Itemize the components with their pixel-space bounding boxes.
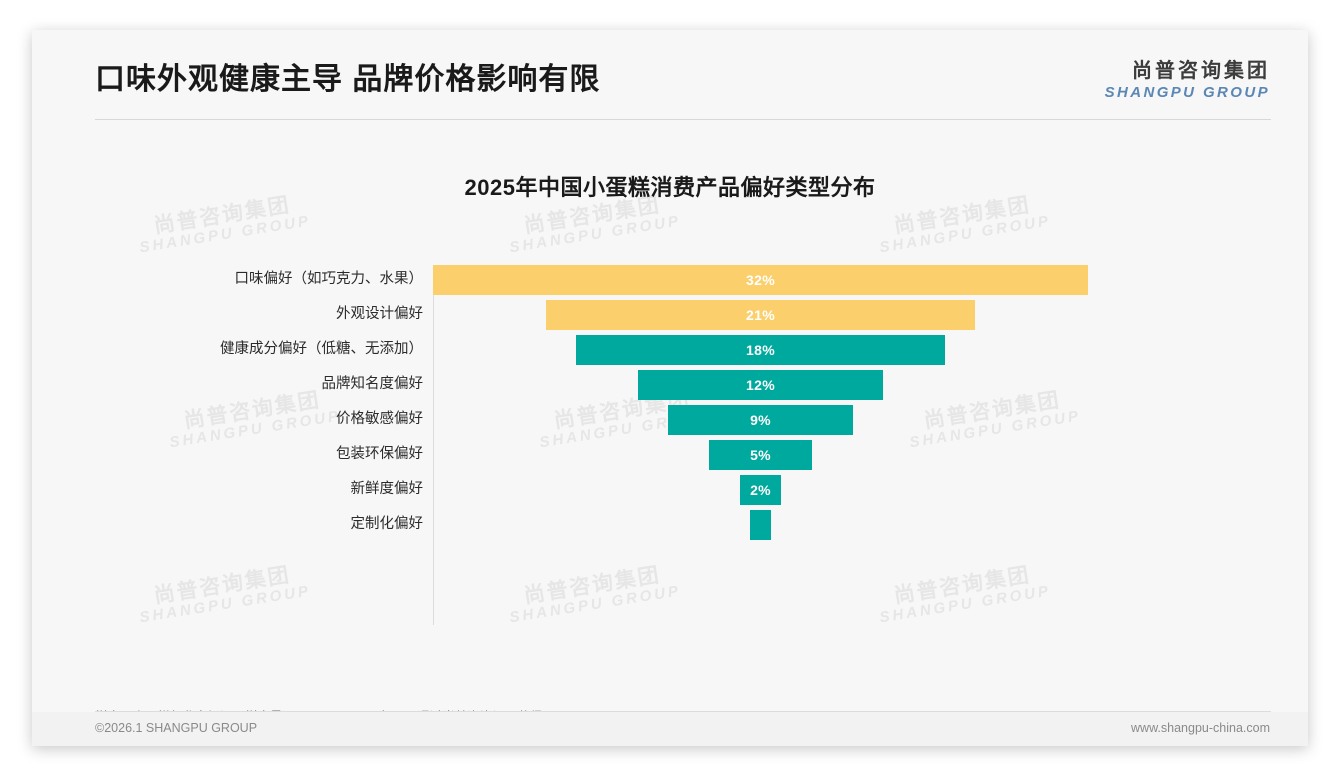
page-title: 口味外观健康主导 品牌价格影响有限 [95, 54, 600, 98]
bar[interactable]: 9% [668, 405, 852, 435]
logo-text-en: SHANGPU GROUP [1105, 84, 1270, 101]
category-label: 新鲜度偏好 [142, 472, 423, 507]
chart-row: 外观设计偏好21% [142, 297, 1212, 332]
logo-text-cn: 尚普咨询集团 [1105, 54, 1270, 83]
bar-value-label: 32% [746, 272, 775, 288]
website-link[interactable]: www.shangpu-china.com [1131, 721, 1270, 735]
chart-row: 包装环保偏好5% [142, 437, 1212, 472]
chart-row: 定制化偏好 [142, 507, 1212, 542]
header-divider [95, 119, 1271, 120]
funnel-bar-chart: 口味偏好（如巧克力、水果）32%外观设计偏好21%健康成分偏好（低糖、无添加）1… [142, 262, 1212, 627]
category-label: 包装环保偏好 [142, 437, 423, 472]
category-label: 品牌知名度偏好 [142, 367, 423, 402]
category-label: 外观设计偏好 [142, 297, 423, 332]
bar[interactable] [750, 510, 770, 540]
bar-value-label: 9% [750, 412, 771, 428]
category-label: 价格敏感偏好 [142, 402, 423, 437]
bar-value-label: 21% [746, 307, 775, 323]
chart-title: 2025年中国小蛋糕消费产品偏好类型分布 [32, 170, 1308, 202]
bar-value-label: 2% [750, 482, 771, 498]
slide-card: 尚普咨询集团SHANGPU GROUP尚普咨询集团SHANGPU GROUP尚普… [32, 30, 1308, 746]
chart-row: 新鲜度偏好2% [142, 472, 1212, 507]
bar-value-label: 5% [750, 447, 771, 463]
brand-logo: 尚普咨询集团 SHANGPU GROUP [1105, 54, 1270, 101]
chart-row: 品牌知名度偏好12% [142, 367, 1212, 402]
slide-header: 口味外观健康主导 品牌价格影响有限 尚普咨询集团 SHANGPU GROUP [32, 30, 1308, 120]
chart-row: 口味偏好（如巧克力、水果）32% [142, 262, 1212, 297]
category-label: 定制化偏好 [142, 507, 423, 542]
slide-footer: ©2026.1 SHANGPU GROUP www.shangpu-china.… [32, 712, 1308, 746]
bar-value-label: 18% [746, 342, 775, 358]
bar[interactable]: 32% [433, 265, 1088, 295]
bar[interactable]: 12% [638, 370, 884, 400]
chart-row: 价格敏感偏好9% [142, 402, 1212, 437]
category-label: 健康成分偏好（低糖、无添加） [142, 332, 423, 367]
bar-value-label: 12% [746, 377, 775, 393]
category-label: 口味偏好（如巧克力、水果） [142, 262, 423, 297]
bar[interactable]: 21% [546, 300, 976, 330]
chart-row: 健康成分偏好（低糖、无添加）18% [142, 332, 1212, 367]
bar[interactable]: 5% [709, 440, 811, 470]
bar[interactable]: 18% [576, 335, 944, 365]
bar[interactable]: 2% [740, 475, 781, 505]
copyright-text: ©2026.1 SHANGPU GROUP [95, 721, 257, 735]
